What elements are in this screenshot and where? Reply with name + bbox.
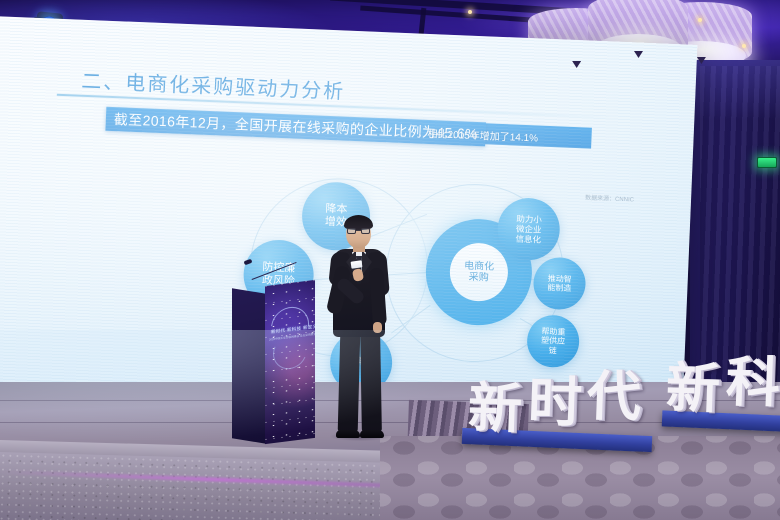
diagram-center-label: 电商化 采购	[449, 242, 509, 302]
bubble-line: 塑供应	[541, 336, 565, 346]
speaker-right-hand	[373, 322, 382, 333]
podium-microphone	[244, 249, 300, 285]
stage-3d-letters: 新 时 代 新 科 技	[444, 358, 780, 466]
podium-left-face	[232, 288, 266, 443]
stage-letter: 新	[467, 382, 523, 437]
stage-letter: 代	[586, 370, 642, 425]
stage-letter: 新	[665, 362, 721, 417]
bubble-line: 信息化	[515, 234, 541, 245]
wall-drape	[700, 66, 780, 396]
stage-letter: 科	[725, 356, 780, 411]
speaker-shoe	[336, 430, 360, 438]
bubble-line: 能制造	[547, 283, 571, 293]
ceiling-downlight-icon	[742, 44, 746, 48]
conference-stage-photo: 二、电商化采购驱动力分析 截至2016年12月，全国开展在线采购的企业比例为45…	[0, 0, 780, 520]
center-label-line2: 采购	[468, 272, 488, 284]
stage-letter: 时	[527, 376, 583, 431]
microphone-head-icon	[244, 259, 253, 265]
ceiling-downlight-icon	[698, 18, 702, 22]
exit-sign	[757, 157, 777, 168]
ceiling-downlight-icon	[468, 10, 472, 14]
speaker-person	[322, 214, 398, 446]
bubble-line: 链	[549, 346, 557, 356]
speaker-shoe	[360, 430, 384, 438]
glasses-icon	[347, 228, 370, 234]
speaker-legs	[338, 332, 382, 436]
podium: 新时代 新科技 新定义 2018中国工业互联网峰会·企业采购数字化高峰论坛	[232, 283, 318, 446]
podium-front-panel: 新时代 新科技 新定义 2018中国工业互联网峰会·企业采购数字化高峰论坛	[265, 280, 315, 444]
